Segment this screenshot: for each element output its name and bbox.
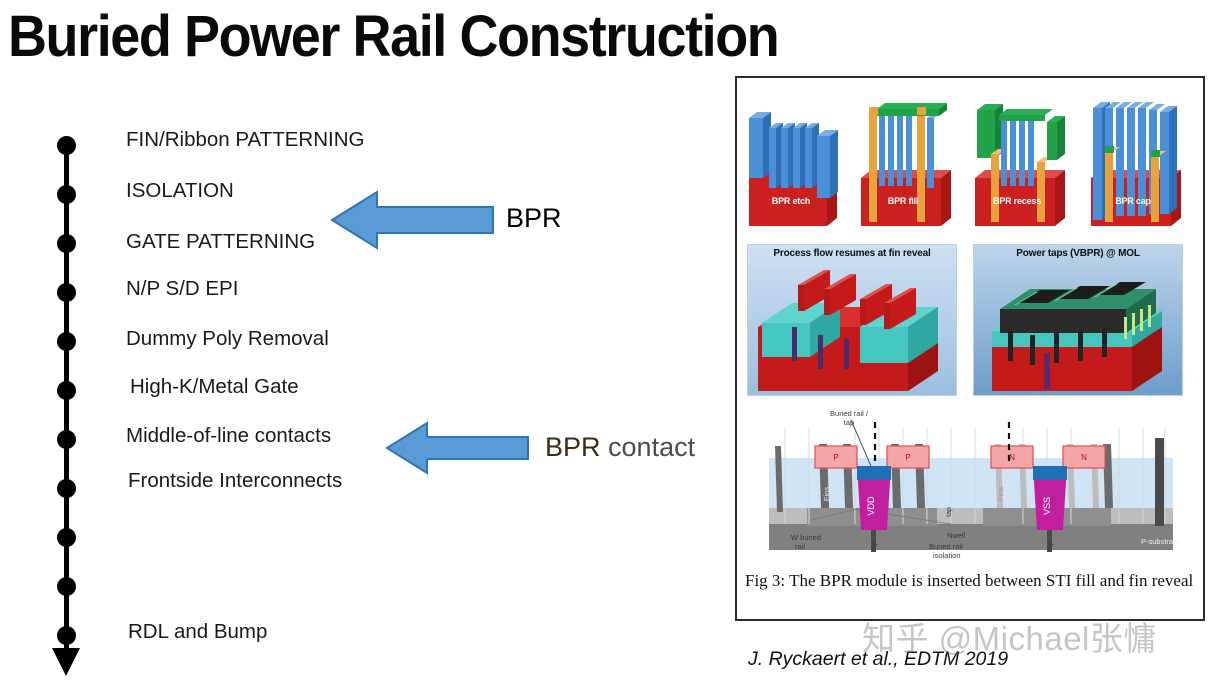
figure-row-cross-section: P P N N VDD [737, 408, 1203, 563]
svg-text:isolation: isolation [933, 551, 961, 560]
svg-text:tap: tap [1047, 541, 1054, 551]
block-caption: BPR fill [855, 196, 951, 206]
bpr-callout-label: BPR [506, 203, 562, 233]
figure-attribution: J. Ryckaert et al., EDTM 2019 [748, 648, 1008, 671]
svg-text:Buried rail: Buried rail [929, 542, 963, 551]
bpr-callout-arrow-icon [330, 186, 495, 254]
flow-step-dot [57, 626, 76, 645]
bpr-contact-callout-label: BPR contact [545, 432, 695, 462]
svg-text:tap: tap [946, 507, 953, 517]
page-title: Buried Power Rail Construction [8, 2, 778, 72]
bpr-etch-block: BPR etch [743, 92, 839, 232]
svg-text:P: P [833, 453, 838, 462]
flow-step-dot [57, 136, 76, 155]
power-taps-panel: Power taps (VBPR) @ MOL [973, 244, 1183, 396]
flow-step-label: High-K/Metal Gate [130, 376, 299, 398]
svg-text:VSS: VSS [1042, 497, 1052, 515]
svg-text:Buried rail /: Buried rail / [830, 409, 869, 418]
fin-reveal-illustration [748, 265, 956, 396]
flow-step-dot [57, 332, 76, 351]
figure-row-fin-reveal-and-power-taps: Process flow resumes at fin reveal [737, 240, 1203, 400]
figure-panel: BPR etch [735, 76, 1205, 621]
svg-text:P-substrate: P-substrate [1141, 537, 1179, 546]
bpr-fill-block: BPR fill [855, 92, 951, 232]
flow-step-label: ISOLATION [126, 180, 234, 202]
flow-step-dot [57, 528, 76, 547]
svg-text:Fins: Fins [996, 487, 1005, 501]
bpr-contact-word-2: contact [601, 432, 696, 462]
flow-step-dot [57, 381, 76, 400]
fin-reveal-panel: Process flow resumes at fin reveal [747, 244, 957, 396]
svg-text:P: P [905, 453, 910, 462]
flow-step-dot [57, 234, 76, 253]
flow-step-label: GATE PATTERNING [126, 231, 315, 253]
svg-text:tap: tap [871, 541, 878, 551]
figure-row-bpr-module-steps: BPR etch [737, 86, 1203, 234]
svg-text:W buried: W buried [791, 533, 821, 542]
block-caption: BPR cap [1085, 196, 1181, 206]
flow-arrowhead-icon [52, 648, 80, 676]
flow-step-label: Dummy Poly Removal [126, 328, 329, 350]
flow-step-label: Frontside Interconnects [128, 470, 342, 492]
bpr-cap-block: BPR cap [1085, 92, 1181, 232]
svg-text:Fins: Fins [822, 487, 831, 501]
flow-step-dot [57, 283, 76, 302]
svg-text:VDD: VDD [866, 496, 876, 516]
block-caption: BPR recess [969, 196, 1065, 206]
flow-step-label: RDL and Bump [128, 621, 267, 643]
bpr-contact-callout-arrow-icon [385, 418, 530, 478]
flow-step-label: Middle-of-line contacts [126, 425, 331, 447]
power-taps-illustration [974, 265, 1182, 396]
bpr-contact-word-1: BPR [545, 432, 601, 462]
flow-step-dot [57, 185, 76, 204]
flow-step-dot [57, 479, 76, 498]
figure-caption: Fig 3: The BPR module is inserted betwee… [745, 570, 1197, 591]
flow-step-label: N/P S/D EPI [126, 278, 238, 300]
flow-step-dot [57, 430, 76, 449]
cross-section-illustration: P P N N VDD [751, 408, 1191, 560]
flow-step-dot [57, 577, 76, 596]
svg-text:Nwell: Nwell [947, 531, 966, 540]
svg-text:rail: rail [795, 542, 805, 551]
svg-text:N: N [1081, 453, 1087, 462]
panel-title: Process flow resumes at fin reveal [748, 248, 956, 259]
bpr-recess-block: BPR recess [969, 92, 1065, 232]
panel-title: Power taps (VBPR) @ MOL [974, 248, 1182, 259]
svg-text:tap: tap [844, 418, 854, 427]
block-caption: BPR etch [743, 196, 839, 206]
flow-step-label: FIN/Ribbon PATTERNING [126, 129, 364, 151]
